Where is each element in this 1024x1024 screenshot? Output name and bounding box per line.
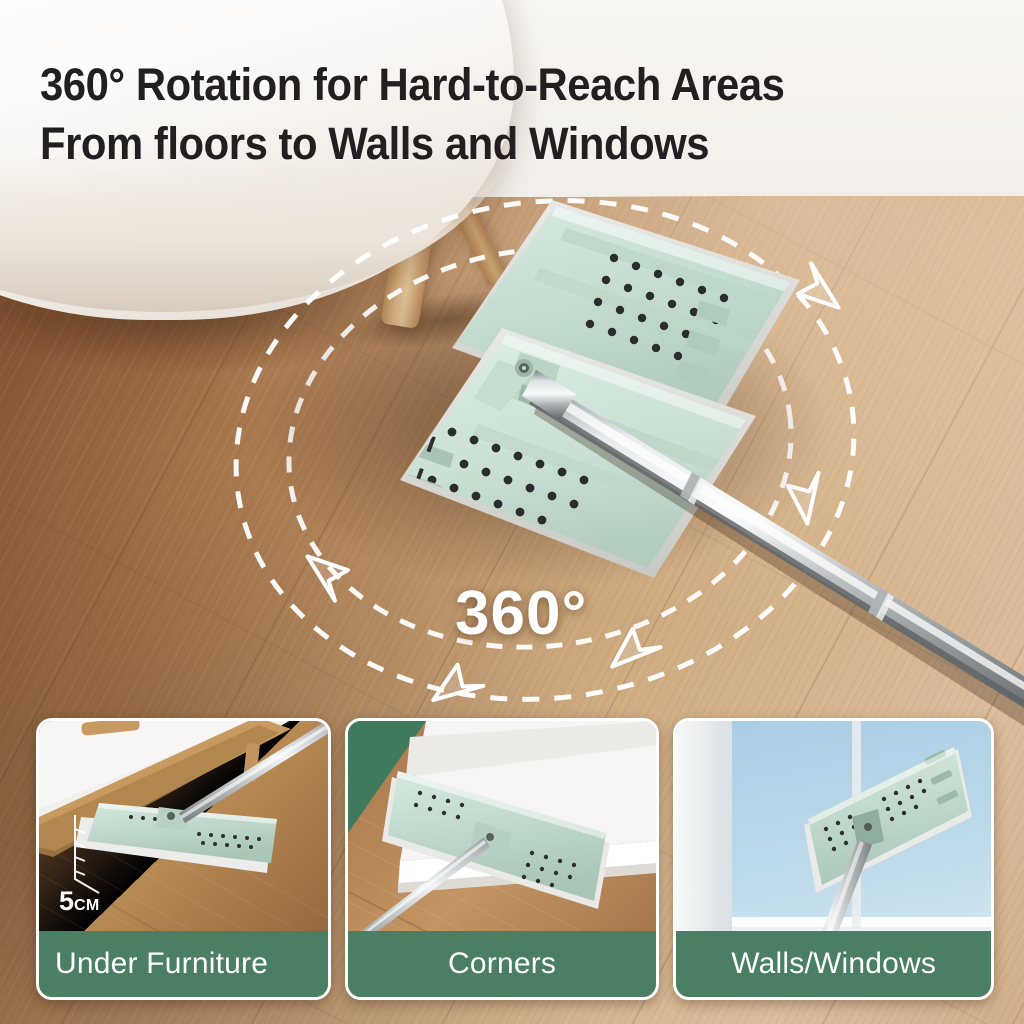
feature-cards: 5CM Under Furniture [36, 718, 994, 1000]
clearance-value: 5 [59, 886, 74, 916]
feature-card-corners[interactable]: Corners [345, 718, 660, 1000]
feature-card-under-furniture[interactable]: 5CM Under Furniture [36, 718, 331, 1000]
clearance-unit: CM [74, 897, 99, 914]
feature-card-walls-windows[interactable]: Walls/Windows [673, 718, 994, 1000]
card-caption-under-furniture: Under Furniture [39, 931, 328, 997]
product-feature-image: 360° Rotation for Hard-to-Reach Areas Fr… [0, 0, 1024, 1024]
clearance-measurement: 5CM [59, 886, 100, 917]
card-caption-corners: Corners [348, 931, 657, 997]
card-caption-walls-windows: Walls/Windows [676, 931, 991, 997]
